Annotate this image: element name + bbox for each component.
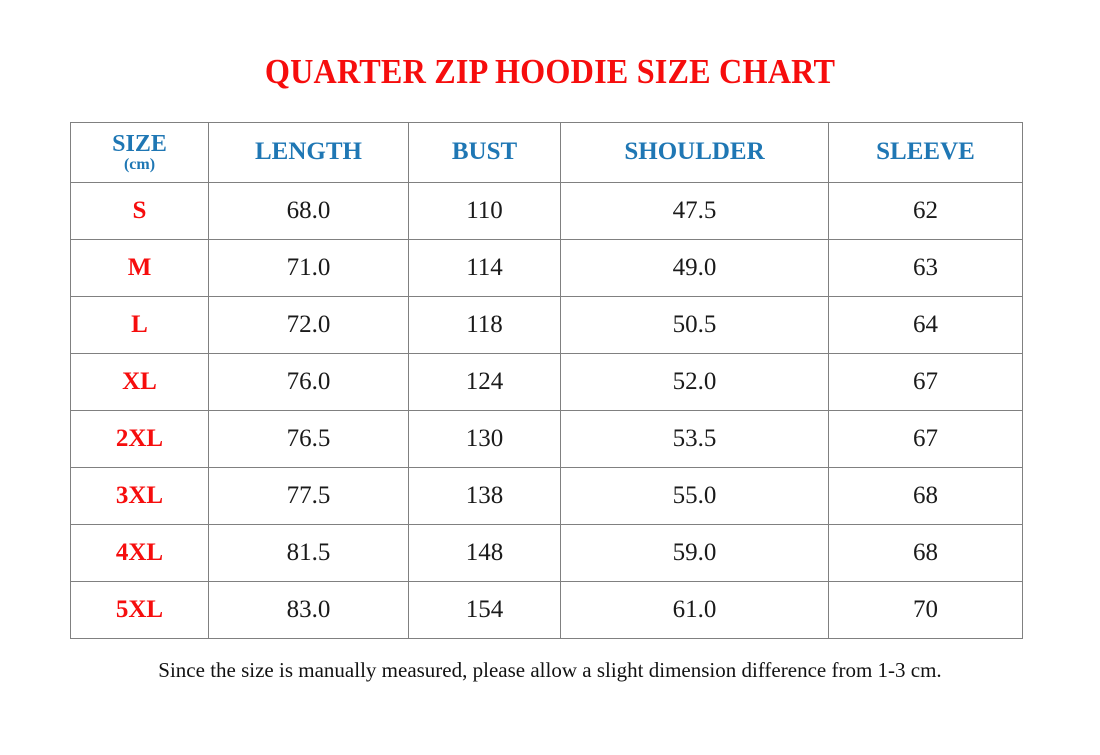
cell-size: S (71, 183, 209, 240)
size-chart-page: QUARTER ZIP HOODIE SIZE CHART SIZE (cm) … (0, 0, 1100, 755)
cell-shoulder: 50.5 (561, 297, 829, 354)
table-header-row: SIZE (cm) LENGTH BUST SHOULDER SLEEVE (71, 123, 1023, 183)
cell-size: 3XL (71, 468, 209, 525)
table-row: 3XL77.513855.068 (71, 468, 1023, 525)
cell-bust: 138 (409, 468, 561, 525)
table-row: L72.011850.564 (71, 297, 1023, 354)
cell-shoulder: 53.5 (561, 411, 829, 468)
cell-size: 4XL (71, 525, 209, 582)
cell-length: 71.0 (209, 240, 409, 297)
column-header-sleeve: SLEEVE (829, 123, 1023, 183)
cell-size: XL (71, 354, 209, 411)
cell-sleeve: 68 (829, 468, 1023, 525)
table-row: 2XL76.513053.567 (71, 411, 1023, 468)
table-row: S68.011047.562 (71, 183, 1023, 240)
cell-bust: 124 (409, 354, 561, 411)
size-chart-table: SIZE (cm) LENGTH BUST SHOULDER SLEEVE S6… (70, 122, 1023, 639)
cell-sleeve: 68 (829, 525, 1023, 582)
column-header-bust: BUST (409, 123, 561, 183)
page-title: QUARTER ZIP HOODIE SIZE CHART (44, 52, 1056, 92)
cell-bust: 154 (409, 582, 561, 639)
cell-shoulder: 47.5 (561, 183, 829, 240)
table-row: XL76.012452.067 (71, 354, 1023, 411)
cell-length: 81.5 (209, 525, 409, 582)
cell-size: L (71, 297, 209, 354)
table-row: 4XL81.514859.068 (71, 525, 1023, 582)
cell-shoulder: 49.0 (561, 240, 829, 297)
column-header-length: LENGTH (209, 123, 409, 183)
cell-size: M (71, 240, 209, 297)
cell-length: 76.0 (209, 354, 409, 411)
cell-length: 72.0 (209, 297, 409, 354)
cell-length: 68.0 (209, 183, 409, 240)
cell-shoulder: 59.0 (561, 525, 829, 582)
cell-bust: 118 (409, 297, 561, 354)
cell-length: 76.5 (209, 411, 409, 468)
cell-sleeve: 63 (829, 240, 1023, 297)
table-body: S68.011047.562M71.011449.063L72.011850.5… (71, 183, 1023, 639)
cell-shoulder: 52.0 (561, 354, 829, 411)
cell-sleeve: 67 (829, 354, 1023, 411)
cell-size: 5XL (71, 582, 209, 639)
column-header-size-unit: (cm) (71, 157, 208, 173)
cell-bust: 110 (409, 183, 561, 240)
column-header-size: SIZE (cm) (71, 123, 209, 183)
cell-bust: 114 (409, 240, 561, 297)
cell-sleeve: 67 (829, 411, 1023, 468)
cell-shoulder: 55.0 (561, 468, 829, 525)
measurement-disclaimer: Since the size is manually measured, ple… (0, 658, 1100, 683)
cell-length: 83.0 (209, 582, 409, 639)
cell-sleeve: 64 (829, 297, 1023, 354)
cell-length: 77.5 (209, 468, 409, 525)
table-row: M71.011449.063 (71, 240, 1023, 297)
cell-sleeve: 70 (829, 582, 1023, 639)
column-header-size-label: SIZE (71, 132, 208, 156)
cell-bust: 130 (409, 411, 561, 468)
cell-bust: 148 (409, 525, 561, 582)
cell-sleeve: 62 (829, 183, 1023, 240)
table-row: 5XL83.015461.070 (71, 582, 1023, 639)
cell-shoulder: 61.0 (561, 582, 829, 639)
column-header-shoulder: SHOULDER (561, 123, 829, 183)
cell-size: 2XL (71, 411, 209, 468)
